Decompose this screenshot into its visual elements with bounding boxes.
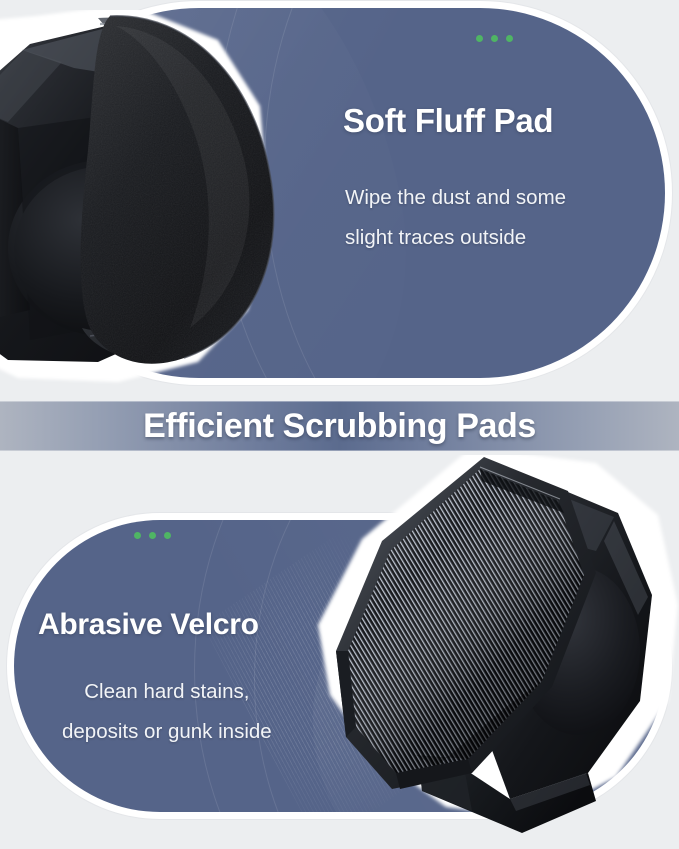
card-arc-line-2	[254, 520, 665, 812]
accent-dot-2	[149, 532, 156, 539]
accent-dot-1	[476, 35, 483, 42]
accent-dot-3	[164, 532, 171, 539]
velcro-texture-watermark	[202, 520, 486, 812]
accent-dot-3	[506, 35, 513, 42]
description-line-1: Wipe the dust and some	[345, 178, 566, 218]
description-line-1: Clean hard stains,	[62, 672, 272, 712]
feature-card-soft-fluff-pad	[14, 8, 665, 378]
description-soft-fluff-pad: Wipe the dust and some slight traces out…	[345, 178, 566, 258]
accent-dots-top	[476, 35, 513, 42]
accent-dot-2	[491, 35, 498, 42]
accent-dot-1	[134, 532, 141, 539]
card-ghost-shape	[270, 520, 665, 812]
section-banner: Efficient Scrubbing Pads	[0, 401, 679, 451]
banner-title: Efficient Scrubbing Pads	[143, 407, 536, 446]
card-sheen-overlay	[14, 520, 665, 812]
headline-soft-fluff-pad: Soft Fluff Pad	[343, 102, 553, 140]
card-sheen-overlay	[14, 8, 665, 378]
accent-dots-bottom	[134, 532, 171, 539]
feature-card-abrasive-velcro	[14, 520, 665, 812]
description-line-2: deposits or gunk inside	[62, 712, 272, 752]
card-arc-line-1	[194, 520, 665, 812]
headline-abrasive-velcro: Abrasive Velcro	[38, 608, 259, 642]
product-feature-page: Soft Fluff Pad Wipe the dust and some sl…	[0, 0, 679, 849]
description-line-2: slight traces outside	[345, 218, 566, 258]
description-abrasive-velcro: Clean hard stains, deposits or gunk insi…	[62, 672, 272, 752]
